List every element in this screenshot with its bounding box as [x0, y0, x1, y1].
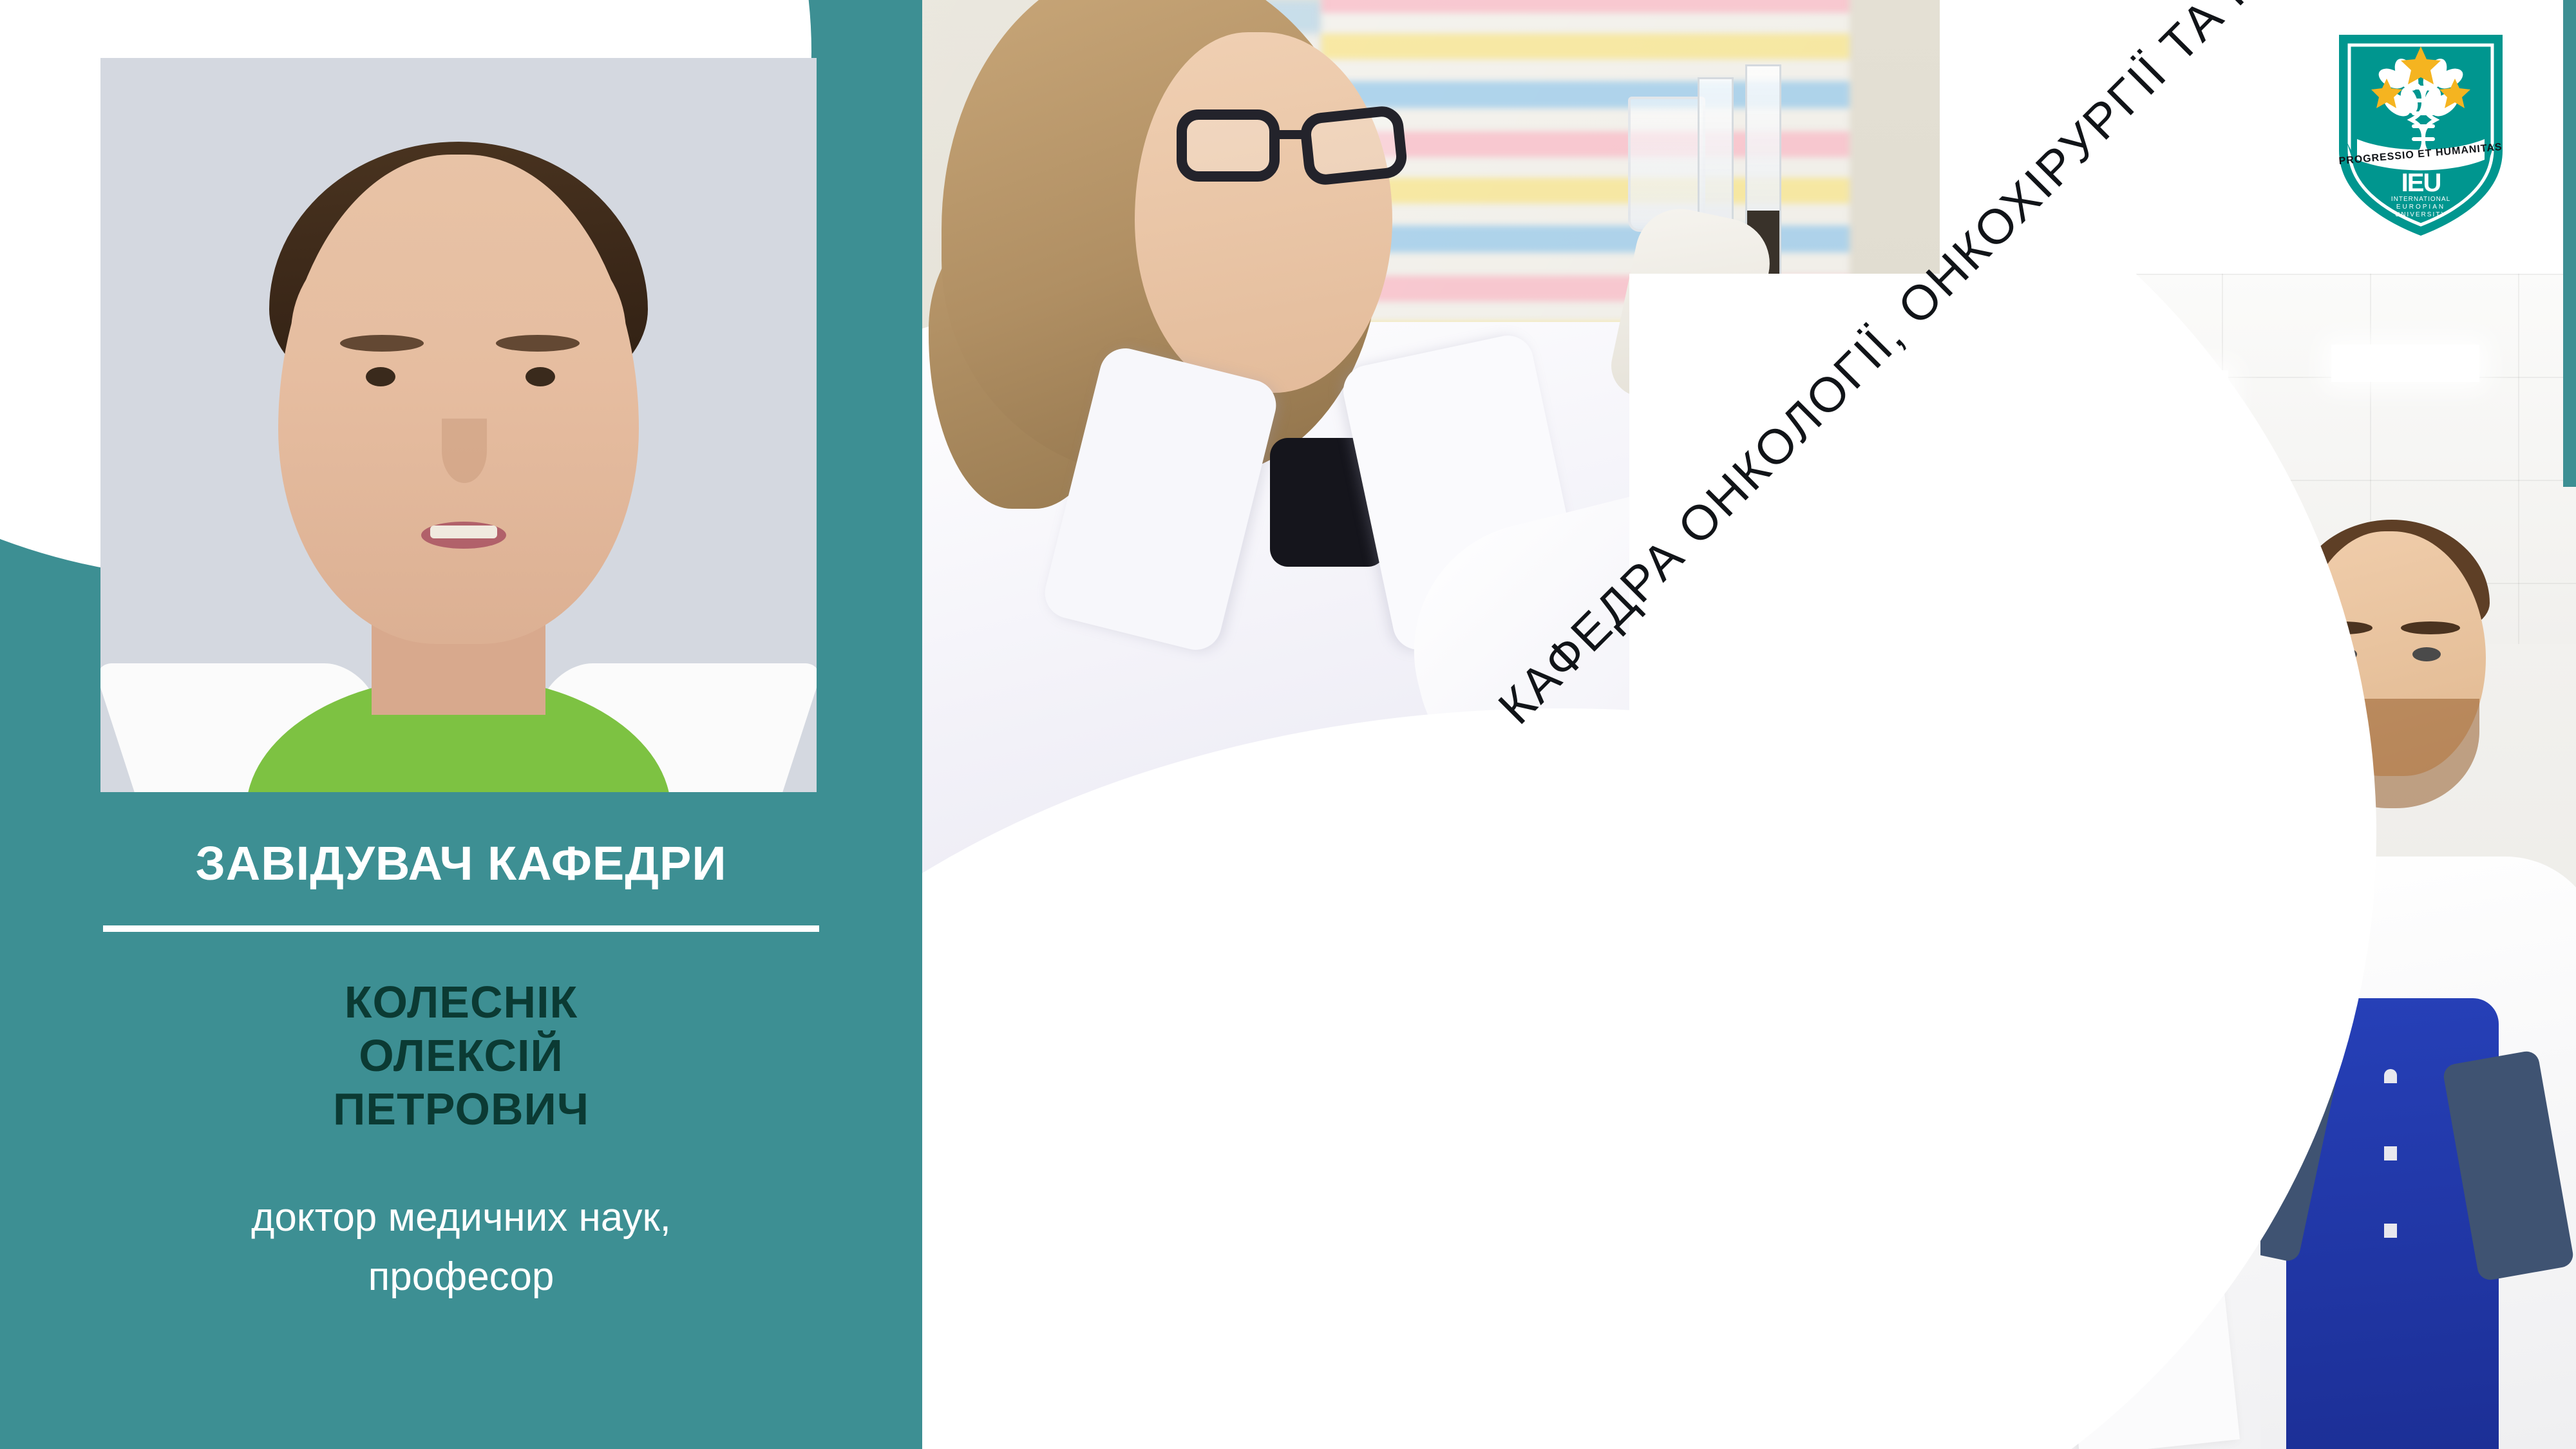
lab-lens-right — [1299, 104, 1409, 187]
portrait-eyebrow-left — [340, 335, 424, 352]
person-degree: доктор медичних наук, професор — [0, 1188, 922, 1307]
degree-line-2: професор — [0, 1247, 922, 1307]
portrait-photo — [100, 58, 817, 792]
left-text-block: ЗАВІДУВАЧ КАФЕДРИ КОЛЕСНІК ОЛЕКСІЙ ПЕТРО… — [0, 837, 922, 1307]
portrait-teeth — [430, 526, 497, 538]
logo-line-1: INTERNATIONAL — [2391, 196, 2450, 203]
portrait-eye-left — [366, 367, 395, 386]
portrait-eye-right — [526, 367, 555, 386]
slide-root: IEU INTERNATIONAL EUROPIAN UNIVERSITY ЗА… — [0, 0, 2576, 1449]
portrait-eyebrow-right — [496, 335, 580, 352]
lab-lens-left — [1177, 109, 1280, 182]
logo-mark-text: IEU — [2401, 169, 2441, 197]
person-name: КОЛЕСНІК ОЛЕКСІЙ ПЕТРОВИЧ — [0, 976, 922, 1135]
right-teal-accent-bar — [2563, 0, 2576, 487]
name-line-surname: КОЛЕСНІК — [0, 976, 922, 1029]
doctor-b-eyebrow-right — [2401, 621, 2460, 634]
doctor-b-eye-right — [2412, 647, 2441, 661]
lab-face — [1135, 32, 1392, 393]
ceiling-light-c — [2331, 345, 2479, 382]
logo-line-3: UNIVERSITY — [2395, 211, 2447, 218]
name-line-patronymic: ПЕТРОВИЧ — [0, 1083, 922, 1136]
role-title: ЗАВІДУВАЧ КАФЕДРИ — [0, 837, 922, 889]
logo-line-2: EUROPIAN — [2396, 204, 2445, 211]
ieu-logo: PROGRESSIO ET HUMANITAS IEU INTERNATIONA… — [2327, 28, 2514, 241]
lab-glasses — [1177, 109, 1428, 187]
name-line-given: ОЛЕКСІЙ — [0, 1029, 922, 1083]
title-divider — [103, 925, 819, 932]
portrait-nose — [442, 419, 487, 483]
degree-line-1: доктор медичних наук, — [0, 1188, 922, 1247]
